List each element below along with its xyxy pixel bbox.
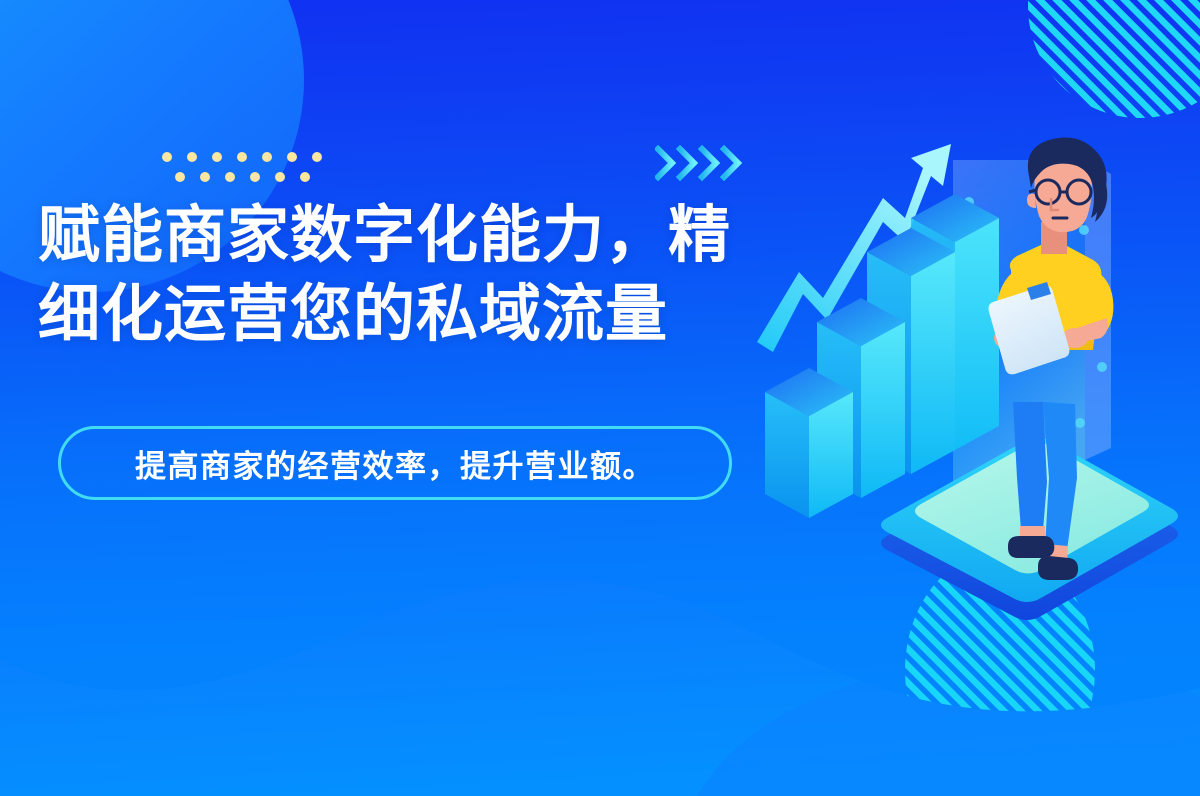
chevron-icon bbox=[702, 149, 716, 177]
bar-chart-small bbox=[765, 368, 853, 518]
dot bbox=[262, 152, 272, 162]
chevron-icon bbox=[680, 149, 694, 177]
dot bbox=[300, 172, 310, 182]
striped-circle-top-right bbox=[1028, 0, 1200, 118]
dot bbox=[237, 152, 247, 162]
dot bbox=[312, 152, 322, 162]
chevron-icon bbox=[658, 149, 672, 177]
dot bbox=[287, 152, 297, 162]
dot bbox=[212, 152, 222, 162]
dot bbox=[200, 172, 210, 182]
dot bbox=[275, 172, 285, 182]
dot bbox=[187, 152, 197, 162]
dot bbox=[250, 172, 260, 182]
copy-block: 赋能商家数字化能力，精 细化运营您的私域流量 bbox=[38, 196, 798, 355]
chevron-icon bbox=[724, 149, 738, 177]
subtitle-pill: 提高商家的经营效率，提升营业额。 bbox=[58, 426, 732, 500]
shoe-back bbox=[1008, 536, 1054, 558]
chevron-arrows bbox=[655, 142, 750, 184]
dot bbox=[225, 172, 235, 182]
dot bbox=[175, 172, 185, 182]
dot-grid bbox=[162, 150, 332, 186]
isometric-growth-illustration bbox=[755, 130, 1200, 620]
dot bbox=[162, 152, 172, 162]
wave-highlight-blob bbox=[680, 660, 1200, 796]
promo-banner: 赋能商家数字化能力，精 细化运营您的私域流量 提高商家的经营效率，提升营业额。 bbox=[0, 0, 1200, 796]
page-title: 赋能商家数字化能力，精 细化运营您的私域流量 bbox=[38, 196, 798, 355]
shoe-front bbox=[1038, 556, 1078, 580]
subtitle-text: 提高商家的经营效率，提升营业额。 bbox=[135, 441, 655, 486]
